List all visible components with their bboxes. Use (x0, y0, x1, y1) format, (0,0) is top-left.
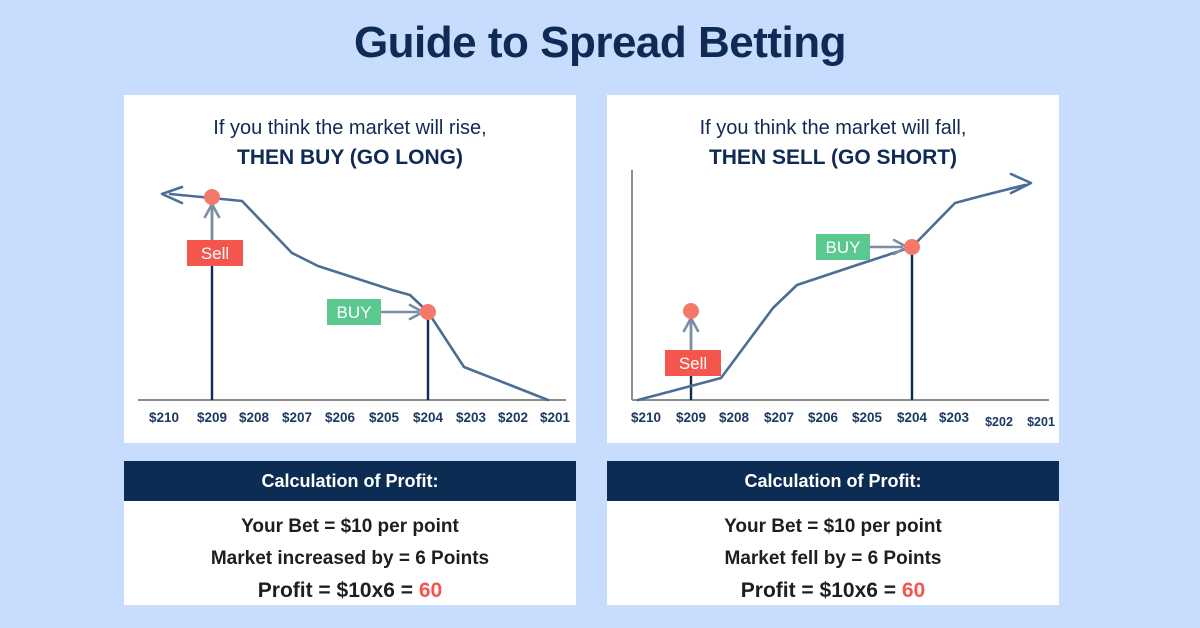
calculation-line-bet: Your Bet = $10 per point (124, 511, 576, 543)
x-tick-label: $202 (985, 415, 1013, 429)
calculation-line-profit: Profit = $10x6 = 60 (124, 575, 576, 607)
calculation-line-profit: Profit = $10x6 = 60 (607, 575, 1059, 607)
line-chart-long: Sell BUY $210 $209 $208 $207 $206 $205 $… (124, 95, 576, 443)
x-tick-label: $204 (413, 410, 444, 425)
x-tick-label: $202 (498, 410, 528, 425)
buy-label-text: BUY (826, 238, 861, 257)
buy-point-marker[interactable] (904, 239, 920, 255)
profit-value: 60 (419, 579, 442, 602)
x-tick-label: $210 (149, 410, 179, 425)
sell-point-marker[interactable] (683, 303, 699, 319)
calculation-line-movement: Market fell by = 6 Points (607, 543, 1059, 575)
x-tick-label: $208 (239, 410, 270, 425)
x-tick-label: $203 (939, 410, 970, 425)
x-tick-label: $203 (456, 410, 487, 425)
calculation-header: Calculation of Profit: (607, 461, 1059, 501)
calculation-header: Calculation of Profit: (124, 461, 576, 501)
line-chart-short: Sell BUY $210 $209 $208 $207 $206 $205 $… (607, 95, 1059, 443)
profit-prefix: Profit = $10x6 = (258, 579, 419, 602)
sell-label-text: Sell (679, 354, 707, 373)
chart-panel-long: If you think the market will rise, THEN … (124, 95, 576, 443)
sell-point-marker[interactable] (204, 189, 220, 205)
x-tick-label: $205 (369, 410, 400, 425)
x-tick-label: $209 (676, 410, 706, 425)
calculation-body: Your Bet = $10 per point Market fell by … (607, 501, 1059, 607)
x-tick-label: $201 (540, 410, 571, 425)
sell-label-text: Sell (201, 244, 229, 263)
x-tick-label: $209 (197, 410, 227, 425)
calculation-line-movement: Market increased by = 6 Points (124, 543, 576, 575)
chart-panel-short: If you think the market will fall, THEN … (607, 95, 1059, 443)
x-tick-label: $205 (852, 410, 883, 425)
calculation-body: Your Bet = $10 per point Market increase… (124, 501, 576, 607)
profit-value: 60 (902, 579, 925, 602)
calculation-panel-short: Calculation of Profit: Your Bet = $10 pe… (607, 461, 1059, 605)
buy-label-text: BUY (337, 303, 372, 322)
calculation-panel-long: Calculation of Profit: Your Bet = $10 pe… (124, 461, 576, 605)
x-tick-label: $207 (282, 410, 312, 425)
x-tick-label: $208 (719, 410, 750, 425)
x-tick-label: $206 (325, 410, 356, 425)
x-tick-label: $204 (897, 410, 928, 425)
x-tick-label: $210 (631, 410, 661, 425)
x-tick-label: $206 (808, 410, 839, 425)
profit-prefix: Profit = $10x6 = (741, 579, 902, 602)
market-price-line (170, 194, 548, 400)
x-tick-label: $201 (1027, 415, 1055, 429)
trend-arrowhead-right-icon (1011, 174, 1031, 193)
page-title: Guide to Spread Betting (0, 18, 1200, 68)
x-tick-label: $207 (764, 410, 794, 425)
buy-point-marker[interactable] (420, 304, 436, 320)
calculation-line-bet: Your Bet = $10 per point (607, 511, 1059, 543)
